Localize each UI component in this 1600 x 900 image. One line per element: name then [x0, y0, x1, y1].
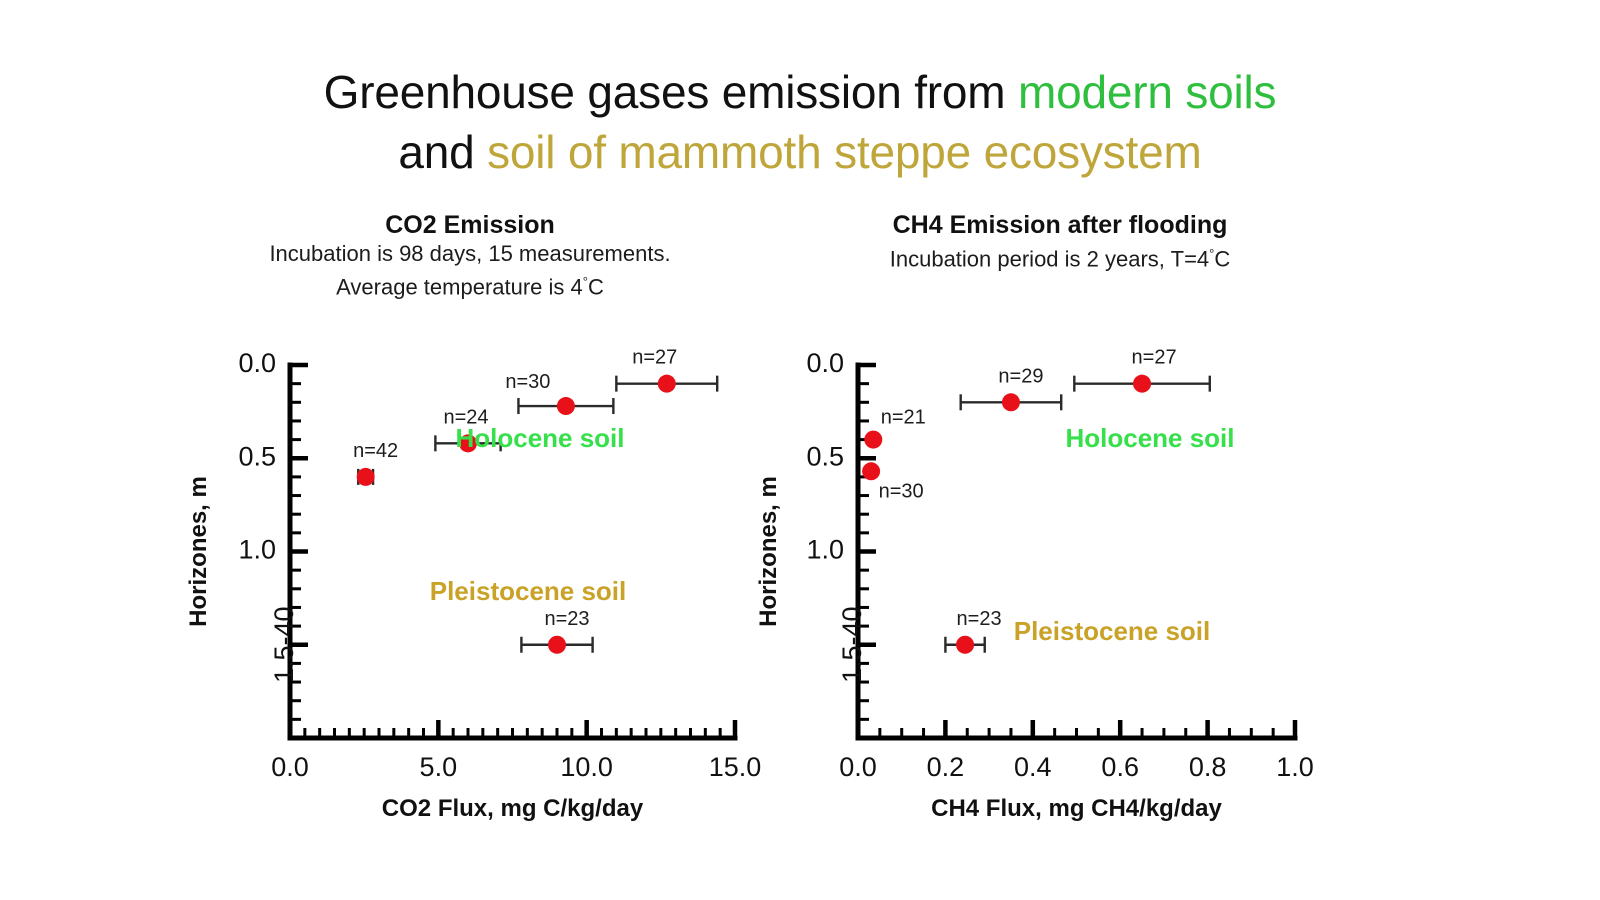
- y-axis-title: Horizones, m: [185, 476, 212, 627]
- x-tick-label: 0.0: [839, 752, 877, 782]
- y-tick-label: 1.5-40: [269, 606, 299, 683]
- title-line-1-green: modern soils: [1018, 66, 1276, 118]
- point-sample-size-label: n=30: [505, 371, 550, 393]
- chart-ch4-svg: 0.00.51.01.5-400.00.20.40.60.81.0CH4 Flu…: [750, 330, 1350, 830]
- data-point: [1133, 375, 1151, 393]
- panel-ch4-subtitle-pre: Incubation period is 2 years, T=4: [890, 246, 1209, 271]
- title-line-1: Greenhouse gases emission from modern so…: [0, 62, 1600, 122]
- point-sample-size-label: n=29: [998, 365, 1043, 387]
- chart-co2-svg: 0.00.51.01.5-400.05.010.015.0CO2 Flux, m…: [180, 330, 780, 830]
- data-point: [1002, 393, 1020, 411]
- data-point: [658, 375, 676, 393]
- title-line-2-gold: soil of mammoth steppe ecosystem: [487, 126, 1202, 178]
- title-line-1-black: Greenhouse gases emission from: [324, 66, 1018, 118]
- group-label-pleistocene: Pleistocene soil: [430, 576, 627, 606]
- panel-co2-subtitle-temp-post: C: [588, 274, 604, 299]
- panel-ch4: CH4 Emission after flooding Incubation p…: [740, 210, 1380, 273]
- panel-ch4-subtitle-post: C: [1214, 246, 1230, 271]
- x-tick-label: 0.4: [1014, 752, 1052, 782]
- y-tick-label: 0.5: [238, 441, 276, 471]
- title-line-2-black: and: [398, 126, 487, 178]
- data-point: [557, 397, 575, 415]
- panel-co2-heading: CO2 Emission: [150, 210, 790, 240]
- panel-co2-subtitle-temp-pre: Average temperature is 4: [336, 274, 583, 299]
- group-label-pleistocene: Pleistocene soil: [1014, 616, 1211, 646]
- panel-ch4-subtitle: Incubation period is 2 years, T=4°C: [740, 240, 1380, 273]
- data-point: [548, 636, 566, 654]
- data-point: [862, 462, 880, 480]
- x-tick-label: 1.0: [1276, 752, 1314, 782]
- x-axis-title: CH4 Flux, mg CH4/kg/day: [931, 795, 1222, 822]
- y-tick-label: 0.0: [806, 348, 844, 378]
- x-tick-label: 0.0: [271, 752, 309, 782]
- x-tick-label: 0.2: [927, 752, 965, 782]
- x-axis-title: CO2 Flux, mg C/kg/day: [382, 795, 644, 822]
- x-tick-label: 0.8: [1189, 752, 1227, 782]
- title-line-2: and soil of mammoth steppe ecosystem: [0, 122, 1600, 182]
- point-sample-size-label: n=23: [957, 608, 1002, 630]
- point-sample-size-label: n=27: [1132, 347, 1177, 369]
- data-point: [956, 636, 974, 654]
- group-label-holocene: Holocene soil: [1065, 423, 1234, 453]
- y-tick-label: 0.0: [238, 348, 276, 378]
- point-sample-size-label: n=42: [353, 440, 398, 462]
- point-sample-size-label: n=27: [632, 347, 677, 369]
- panel-co2-subtitle-line-2: Average temperature is 4°C: [150, 268, 790, 301]
- y-tick-label: 1.0: [238, 535, 276, 565]
- chart-ch4: 0.00.51.01.5-400.00.20.40.60.81.0CH4 Flu…: [750, 330, 1350, 830]
- data-point: [864, 431, 882, 449]
- point-sample-size-label: n=23: [544, 608, 589, 630]
- y-tick-label: 1.0: [806, 535, 844, 565]
- point-sample-size-label: n=30: [879, 480, 924, 502]
- y-axis-title: Horizones, m: [755, 476, 782, 627]
- x-tick-label: 0.6: [1101, 752, 1139, 782]
- y-tick-label: 0.5: [806, 441, 844, 471]
- page-title: Greenhouse gases emission from modern so…: [0, 62, 1600, 182]
- x-tick-label: 5.0: [420, 752, 458, 782]
- group-label-holocene: Holocene soil: [455, 423, 624, 453]
- y-tick-label: 1.5-40: [837, 606, 867, 683]
- data-point: [357, 468, 375, 486]
- x-tick-label: 10.0: [560, 752, 613, 782]
- panel-co2-subtitle-line-1: Incubation is 98 days, 15 measurements.: [150, 240, 790, 268]
- panel-ch4-heading: CH4 Emission after flooding: [740, 210, 1380, 240]
- panel-co2: CO2 Emission Incubation is 98 days, 15 m…: [150, 210, 790, 301]
- chart-co2: 0.00.51.01.5-400.05.010.015.0CO2 Flux, m…: [180, 330, 780, 830]
- point-sample-size-label: n=21: [881, 407, 926, 429]
